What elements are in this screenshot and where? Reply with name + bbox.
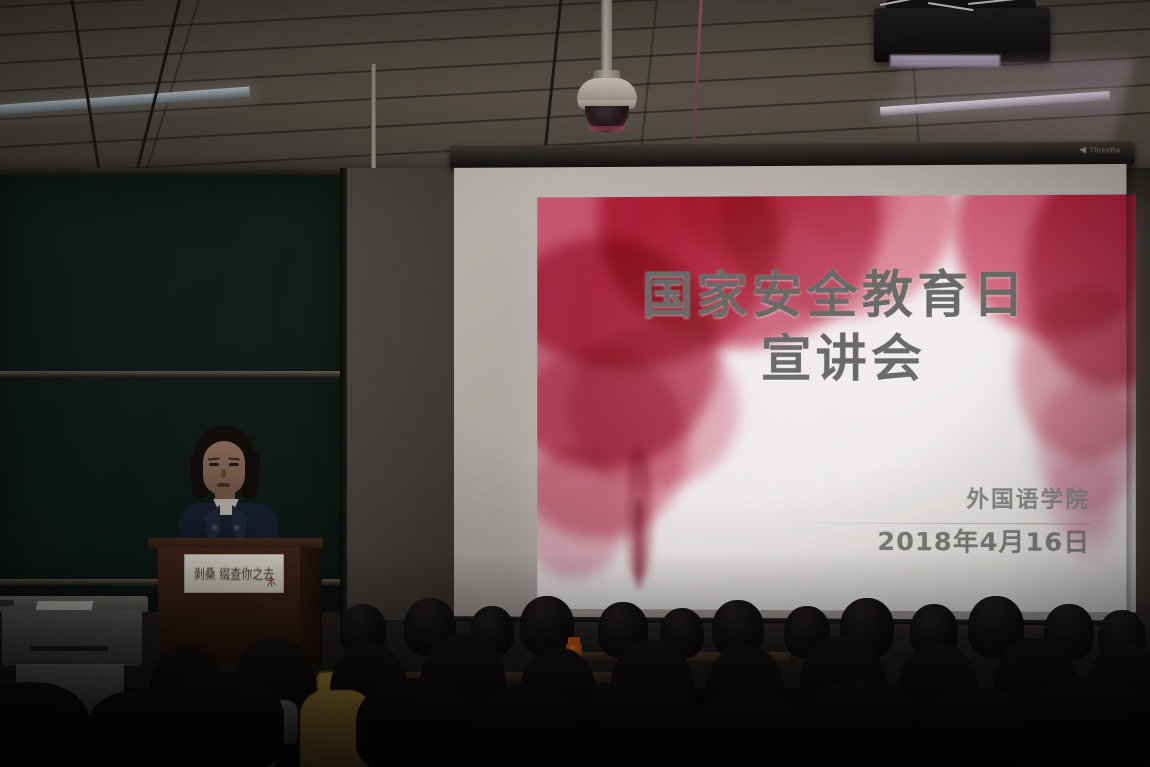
- camera-dome-lens: [585, 106, 629, 132]
- speaker-eye-left: [209, 463, 219, 466]
- audience-head: [916, 688, 1032, 767]
- audience-head: [0, 682, 90, 767]
- orange-bottle-cap: [568, 637, 580, 645]
- audience-head: [1024, 676, 1150, 767]
- brand-text: ThreeBa: [1090, 147, 1121, 154]
- audience-head: [578, 678, 702, 767]
- audience-seating: [0, 560, 1150, 767]
- projected-slide: 国家安全教育日 宣讲会 外国语学院 2018年4月16日: [537, 194, 1136, 612]
- slide-footer-block: 外国语学院 2018年4月16日: [877, 481, 1090, 559]
- chalkboard-right-edge: [340, 168, 347, 620]
- slide-date: 2018年4月16日: [877, 522, 1090, 559]
- speaker-eye-right: [229, 463, 239, 466]
- chalkboard-rail: [0, 371, 346, 378]
- slide-organization: 外国语学院: [877, 481, 1090, 514]
- camera-mount-rod: [601, 0, 612, 74]
- screen-surface: 国家安全教育日 宣讲会 外国语学院 2018年4月16日: [454, 164, 1126, 621]
- audience-head: [470, 686, 586, 767]
- speaker-nose: [221, 469, 226, 478]
- screen-brand-label: ThreeBa: [1079, 147, 1120, 155]
- projector-lens: [890, 55, 1000, 67]
- audience-head: [694, 688, 808, 767]
- classroom-photo: ThreeBa: [0, 0, 1150, 767]
- projection-screen: ThreeBa: [432, 141, 1135, 622]
- screen-side-shadow: [1126, 164, 1136, 623]
- audience-head: [800, 680, 924, 767]
- audience-head: [158, 672, 284, 767]
- audience-head: [356, 678, 478, 767]
- coat-button: [212, 525, 218, 531]
- speaker-mouth: [217, 483, 230, 487]
- brand-logo-icon: [1079, 147, 1086, 154]
- projector-body: [874, 8, 1050, 62]
- coat-button: [234, 525, 240, 531]
